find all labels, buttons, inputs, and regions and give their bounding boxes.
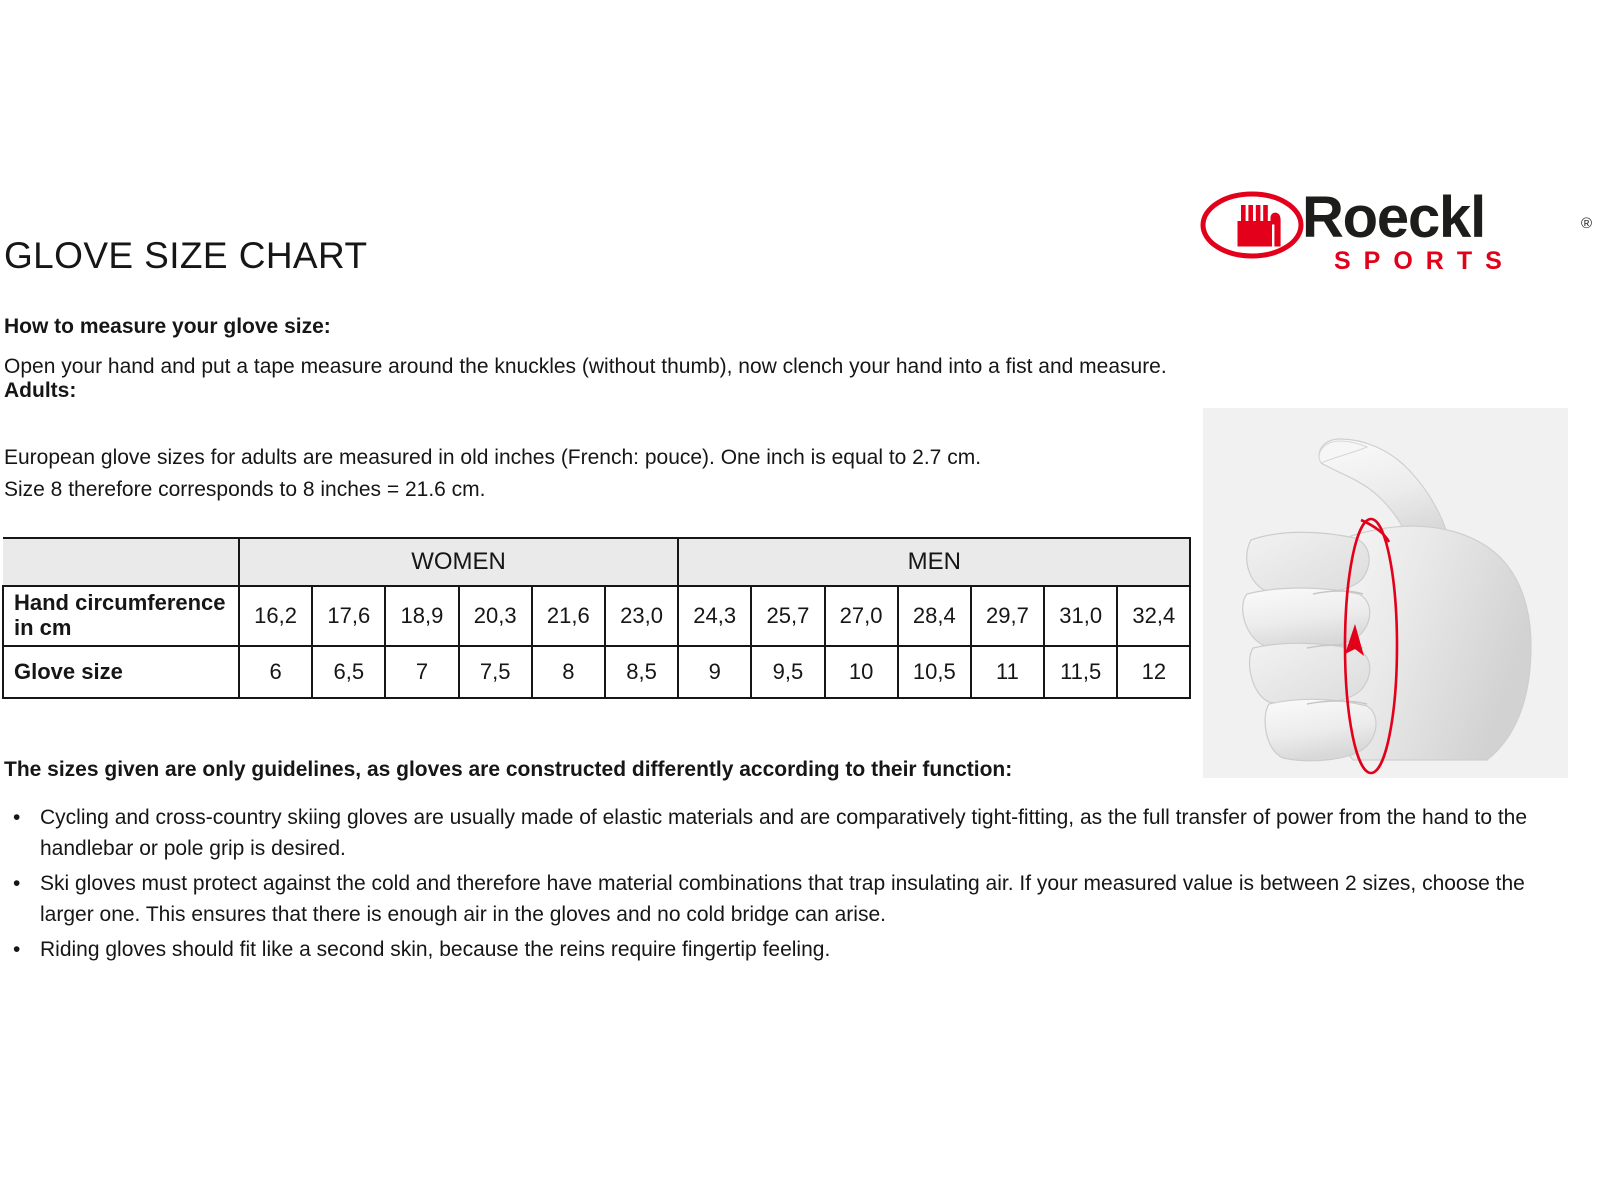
cell-circumference-13: 32,4 <box>1117 586 1190 646</box>
page-header: GLOVE SIZE CHART Roeckl ® SPORTS <box>0 185 1600 295</box>
cell-glovesize-3: 7 <box>385 646 458 698</box>
adults-line-2: Size 8 therefore corresponds to 8 inches… <box>4 478 486 502</box>
howto-paragraph: Open your hand and put a tape measure ar… <box>4 355 1167 379</box>
row-label-hand-circumference: Hand circumference in cm <box>3 586 239 646</box>
howto-heading: How to measure your glove size: <box>4 315 331 339</box>
cell-glovesize-9: 10 <box>825 646 898 698</box>
list-item-text: Cycling and cross-country skiing gloves … <box>40 806 1527 860</box>
cell-circumference-3: 18,9 <box>385 586 458 646</box>
guidelines-list: • Cycling and cross-country skiing glove… <box>4 802 1584 969</box>
table-row-glove-size: Glove size 6 6,5 7 7,5 8 8,5 9 9,5 10 10… <box>3 646 1190 698</box>
registered-trademark-icon: ® <box>1581 215 1592 232</box>
bullet-icon: • <box>13 868 20 899</box>
hand-measurement-illustration <box>1203 408 1568 778</box>
cell-circumference-11: 29,7 <box>971 586 1044 646</box>
cell-circumference-4: 20,3 <box>459 586 532 646</box>
cell-circumference-5: 21,6 <box>532 586 605 646</box>
cell-circumference-9: 27,0 <box>825 586 898 646</box>
list-item-text: Ski gloves must protect against the cold… <box>40 872 1525 926</box>
group-header-spacer <box>3 538 239 586</box>
group-header-women: WOMEN <box>239 538 678 586</box>
logo-wordmark: Roeckl <box>1302 189 1485 247</box>
cell-circumference-8: 25,7 <box>751 586 824 646</box>
table-row-hand-circumference: Hand circumference in cm 16,2 17,6 18,9 … <box>3 586 1190 646</box>
bullet-icon: • <box>13 802 20 833</box>
roeckl-sports-logo: Roeckl ® SPORTS <box>1192 187 1592 282</box>
page-title: GLOVE SIZE CHART <box>4 235 367 277</box>
list-item: • Cycling and cross-country skiing glove… <box>4 802 1584 864</box>
roeckl-glove-oval-icon <box>1200 191 1304 263</box>
cell-glovesize-8: 9,5 <box>751 646 824 698</box>
table-group-header-row: WOMEN MEN <box>3 538 1190 586</box>
cell-glovesize-6: 8,5 <box>605 646 678 698</box>
cell-circumference-2: 17,6 <box>312 586 385 646</box>
list-item-text: Riding gloves should fit like a second s… <box>40 938 830 961</box>
glove-size-table: WOMEN MEN Hand circumference in cm 16,2 … <box>2 537 1191 699</box>
cell-circumference-12: 31,0 <box>1044 586 1117 646</box>
adults-heading: Adults: <box>4 379 76 403</box>
bullet-icon: • <box>13 934 20 965</box>
logo-tagline: SPORTS <box>1334 247 1515 276</box>
cell-circumference-6: 23,0 <box>605 586 678 646</box>
row-label-glove-size: Glove size <box>3 646 239 698</box>
cell-circumference-1: 16,2 <box>239 586 312 646</box>
list-item: • Ski gloves must protect against the co… <box>4 868 1584 930</box>
cell-glovesize-2: 6,5 <box>312 646 385 698</box>
cell-glovesize-13: 12 <box>1117 646 1190 698</box>
cell-glovesize-11: 11 <box>971 646 1044 698</box>
cell-glovesize-4: 7,5 <box>459 646 532 698</box>
cell-glovesize-12: 11,5 <box>1044 646 1117 698</box>
cell-glovesize-5: 8 <box>532 646 605 698</box>
cell-glovesize-1: 6 <box>239 646 312 698</box>
row-label-line-1: Hand circumference <box>14 590 226 615</box>
cell-glovesize-10: 10,5 <box>898 646 971 698</box>
glove-size-chart-page: GLOVE SIZE CHART Roeckl ® SPORTS <box>0 0 1600 1200</box>
cell-circumference-7: 24,3 <box>678 586 751 646</box>
guidelines-heading: The sizes given are only guidelines, as … <box>4 758 1012 782</box>
group-header-men: MEN <box>678 538 1190 586</box>
adults-line-1: European glove sizes for adults are meas… <box>4 446 981 470</box>
cell-circumference-10: 28,4 <box>898 586 971 646</box>
cell-glovesize-7: 9 <box>678 646 751 698</box>
row-label-line-2: in cm <box>14 615 71 640</box>
list-item: • Riding gloves should fit like a second… <box>4 934 1584 965</box>
